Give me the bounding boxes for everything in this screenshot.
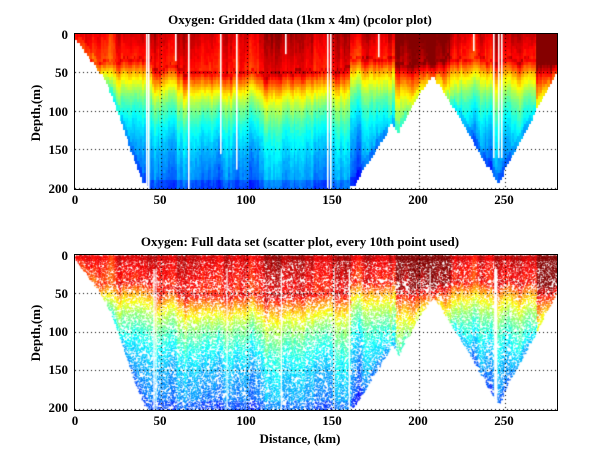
xtick-bottom-50: 50: [147, 414, 173, 427]
xtick-top-50: 50: [147, 193, 173, 206]
xtick-top-0: 0: [62, 193, 88, 206]
xtick-bottom-100: 100: [229, 414, 263, 427]
ytick-top-0: 0: [40, 28, 68, 41]
ytick-bottom-200: 200: [34, 401, 68, 414]
ytick-top-100: 100: [34, 105, 68, 118]
panel-title-gridded: Oxygen: Gridded data (1km x 4m) (pcolor …: [0, 12, 600, 28]
xtick-bottom-150: 150: [315, 414, 349, 427]
ytick-top-50: 50: [40, 66, 68, 79]
xtick-bottom-0: 0: [62, 414, 88, 427]
ytick-bottom-100: 100: [34, 325, 68, 338]
ytick-bottom-150: 150: [34, 363, 68, 376]
matlab-figure: Oxygen: Gridded data (1km x 4m) (pcolor …: [0, 0, 600, 451]
xtick-top-200: 200: [401, 193, 435, 206]
panel-title-scatter: Oxygen: Full data set (scatter plot, eve…: [0, 234, 600, 250]
xtick-top-150: 150: [315, 193, 349, 206]
xtick-top-250: 250: [487, 193, 521, 206]
xtick-top-100: 100: [229, 193, 263, 206]
axes-gridded: [74, 33, 558, 190]
pcolor-field: [75, 34, 557, 189]
scatter-field: [75, 255, 557, 410]
ytick-bottom-50: 50: [40, 287, 68, 300]
xtick-bottom-250: 250: [487, 414, 521, 427]
axes-scatter: [74, 254, 558, 411]
gridded-pcolor-panel: Oxygen: Gridded data (1km x 4m) (pcolor …: [0, 0, 600, 220]
ytick-bottom-0: 0: [40, 249, 68, 262]
fulldata-scatter-panel: Oxygen: Full data set (scatter plot, eve…: [0, 225, 600, 451]
x-axis-label-bottom: Distance, (km): [0, 431, 600, 447]
xtick-bottom-200: 200: [401, 414, 435, 427]
ytick-top-150: 150: [34, 143, 68, 156]
